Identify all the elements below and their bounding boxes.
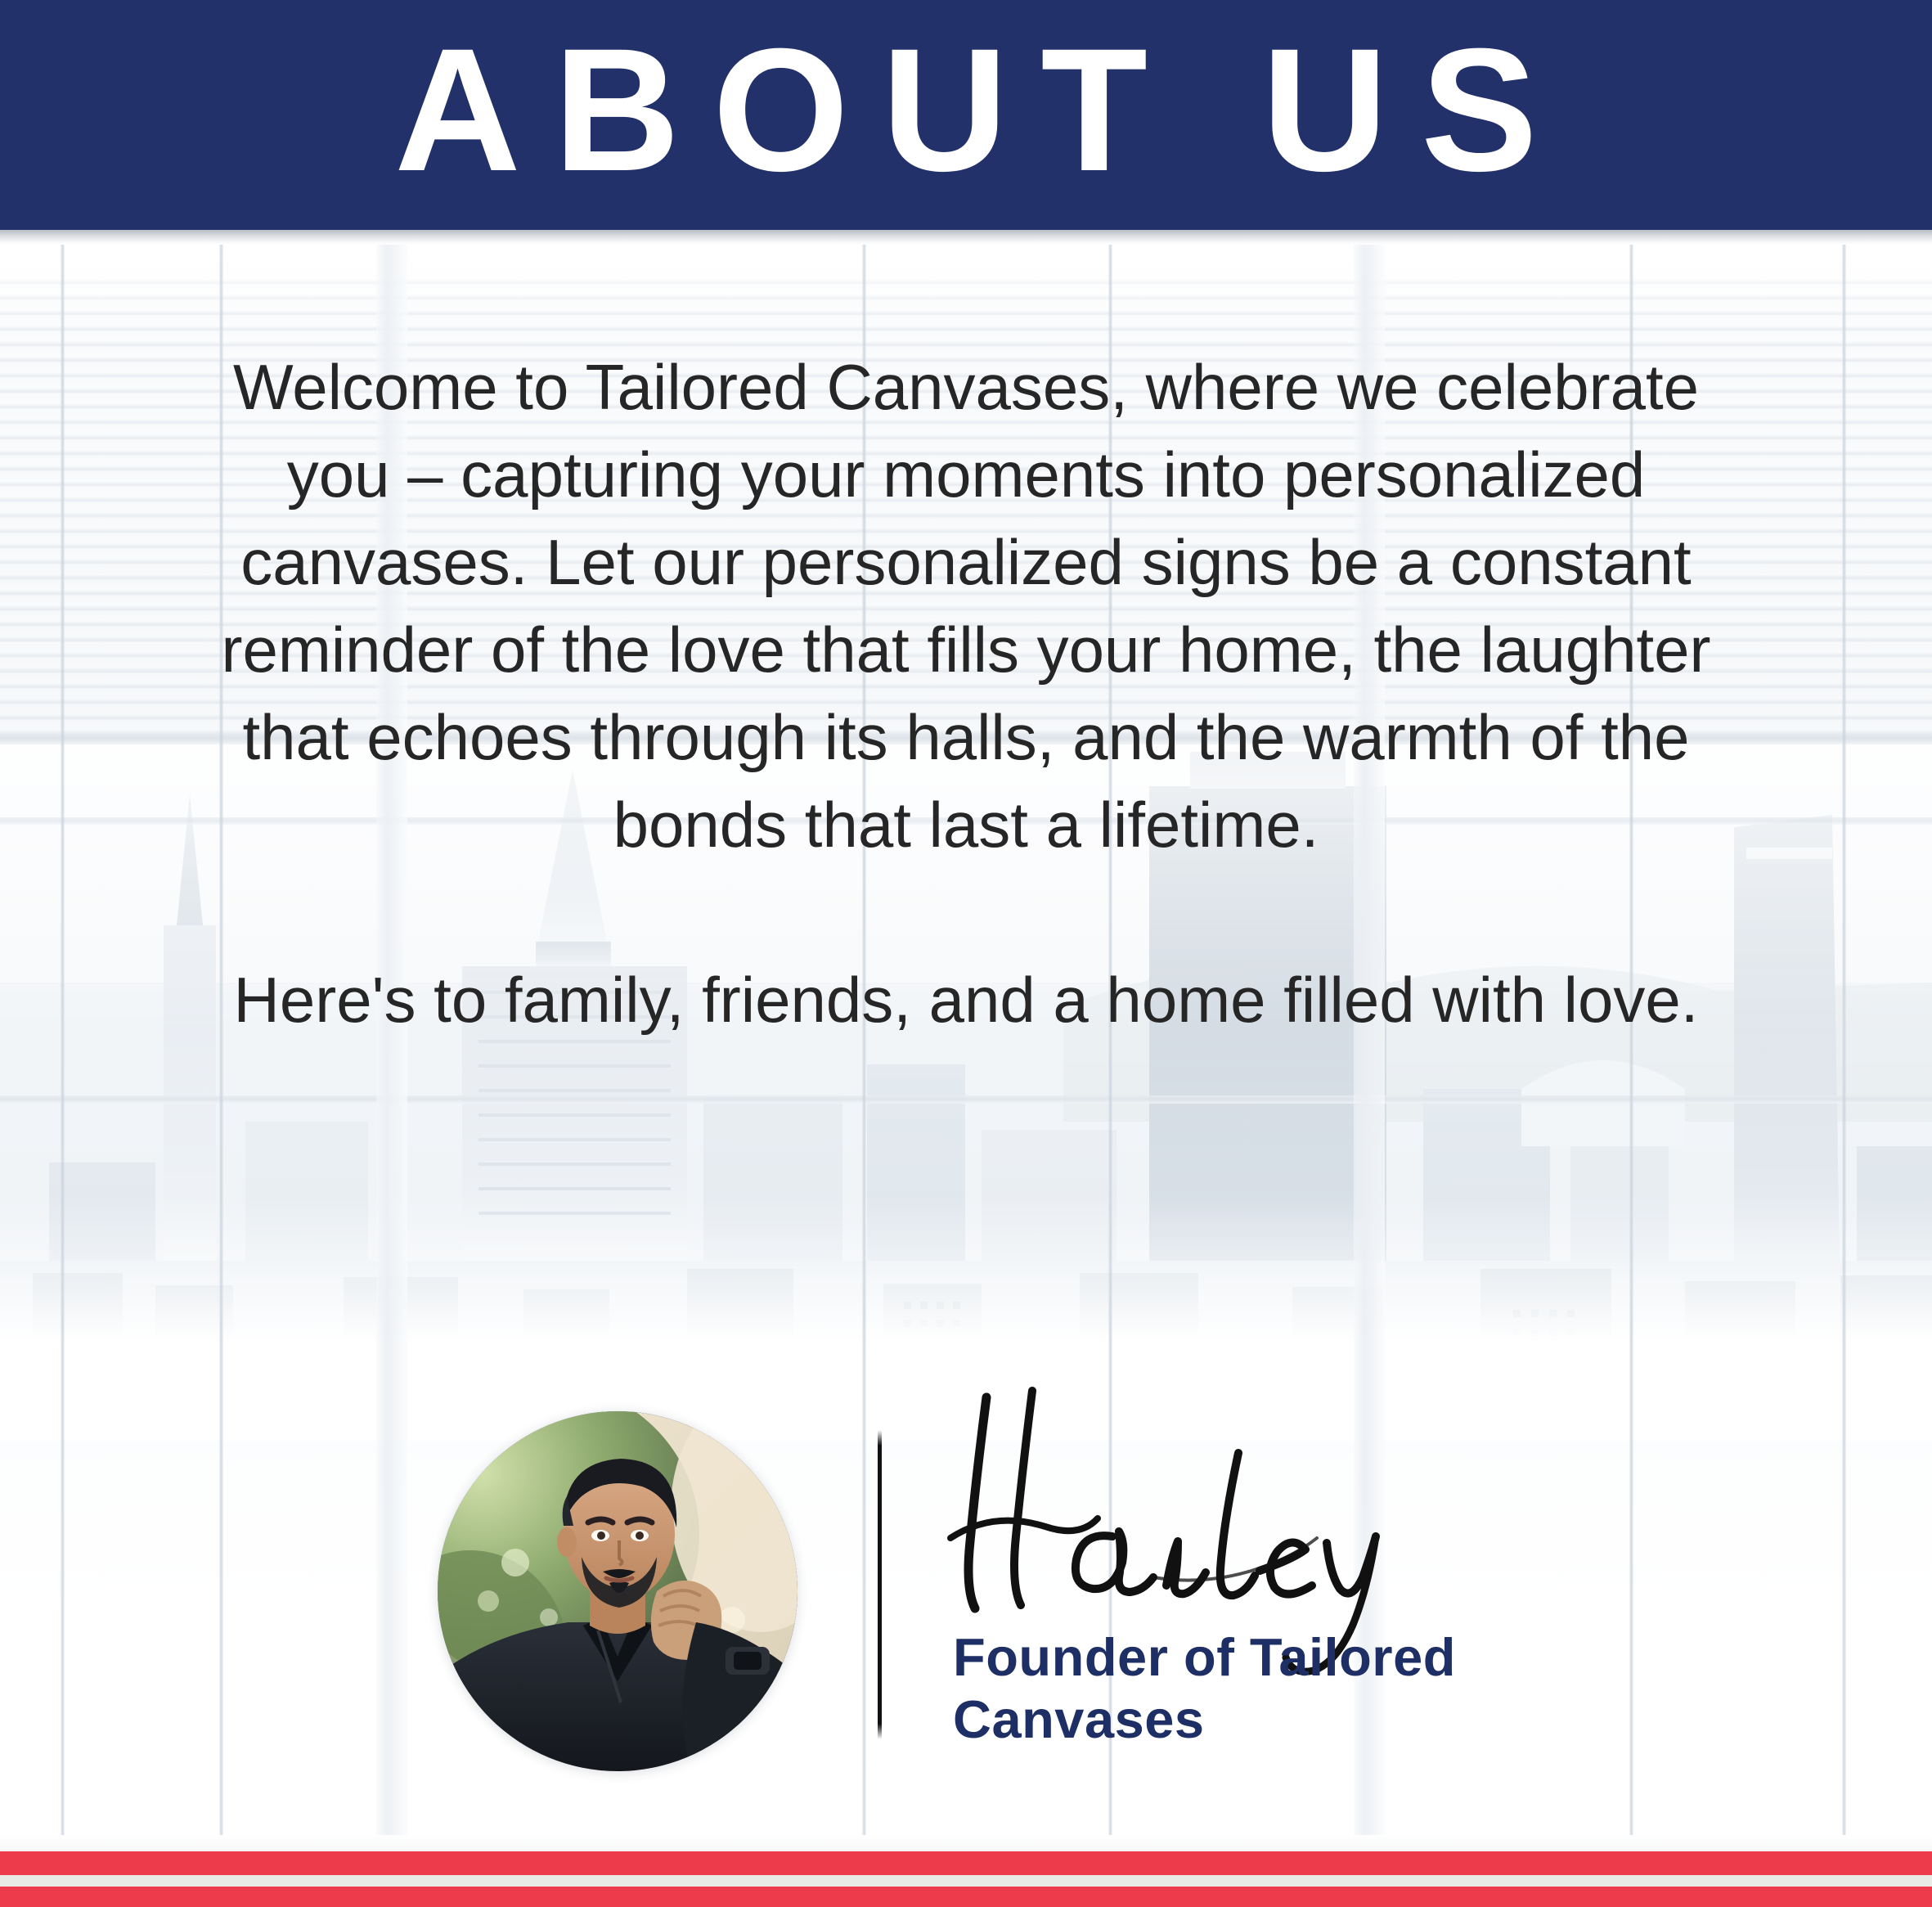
avatar	[438, 1411, 798, 1771]
page-title: ABOUT US	[362, 23, 1570, 198]
about-paragraph-1: Welcome to Tailored Canvases, where we c…	[189, 344, 1743, 869]
window-frame-rail	[0, 1095, 1932, 1104]
paragraph-spacer	[189, 869, 1743, 956]
about-us-poster: ABOUT US Welcome to Tailored Canvases, w…	[0, 0, 1932, 1907]
about-paragraph-2: Here's to family, friends, and a home fi…	[189, 956, 1743, 1044]
footer-stripe-bottom	[0, 1887, 1932, 1907]
page-header-banner: ABOUT US	[0, 0, 1932, 230]
about-us-copy: Welcome to Tailored Canvases, where we c…	[189, 344, 1743, 1044]
founder-title-line-2: Canvases	[953, 1689, 1575, 1751]
author-signature-row: Founder of Tailored Canvases	[0, 1383, 1932, 1775]
founder-title: Founder of Tailored Canvases	[953, 1626, 1575, 1751]
signature-divider	[878, 1430, 882, 1739]
founder-title-line-1: Founder of Tailored	[953, 1626, 1575, 1689]
footer-stripe-top	[0, 1851, 1932, 1875]
blinds-top-fade	[0, 230, 1932, 328]
footer-stripe-gap	[0, 1875, 1932, 1887]
footer-top-fade	[0, 1835, 1932, 1851]
header-underline-divider	[0, 230, 1932, 245]
